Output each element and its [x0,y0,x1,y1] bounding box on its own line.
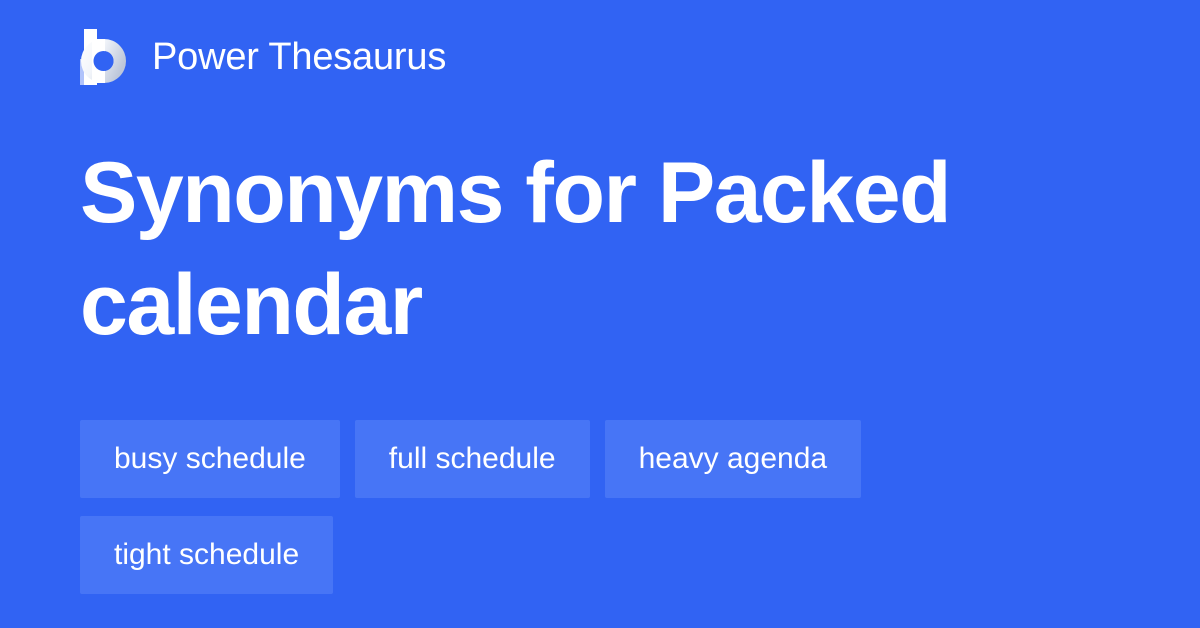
synonym-tag-list: busy schedule full schedule heavy agenda… [80,420,1120,594]
brand-header[interactable]: Power Thesaurus [80,28,446,86]
synonym-tag[interactable]: busy schedule [80,420,340,498]
synonym-tag[interactable]: full schedule [355,420,590,498]
brand-name: Power Thesaurus [152,38,446,76]
synonym-tag[interactable]: heavy agenda [605,420,862,498]
power-thesaurus-logo-icon [80,29,130,85]
synonym-tag[interactable]: tight schedule [80,516,333,594]
social-share-card: Power Thesaurus Synonyms for Packed cale… [0,0,1200,628]
page-title: Synonyms for Packed calendar [80,137,1080,361]
